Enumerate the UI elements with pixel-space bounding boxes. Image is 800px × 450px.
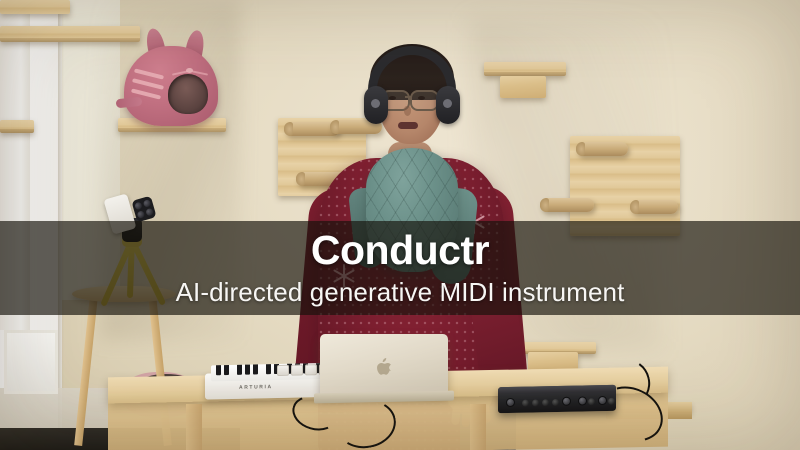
desk-leg bbox=[186, 404, 202, 450]
cat-house-entry-hole bbox=[168, 74, 208, 114]
cat-house bbox=[120, 28, 220, 126]
shelf-board bbox=[0, 0, 70, 14]
laptop-base bbox=[314, 391, 454, 404]
cat-peg-cap bbox=[630, 200, 639, 214]
shelf-board-edge bbox=[0, 38, 140, 42]
window-frame bbox=[4, 330, 58, 394]
shelf-left-mid bbox=[0, 120, 34, 133]
cat-peg bbox=[576, 142, 628, 156]
nose bbox=[404, 106, 411, 116]
cat-peg-cap bbox=[296, 172, 305, 186]
laptop[interactable] bbox=[312, 334, 452, 406]
video-frame: ARTURIA Conductr AI-d bbox=[0, 0, 800, 450]
apple-logo-icon bbox=[376, 358, 391, 375]
piano-black-key[interactable] bbox=[266, 364, 271, 374]
audio-interface[interactable] bbox=[498, 385, 616, 419]
midi-pad[interactable] bbox=[291, 364, 303, 375]
piano-black-key[interactable] bbox=[245, 365, 250, 375]
piano-black-key[interactable] bbox=[237, 365, 242, 375]
shelf-top-left-upper bbox=[0, 0, 70, 14]
page-subtitle: AI-directed generative MIDI instrument bbox=[176, 275, 625, 309]
midi-pad[interactable] bbox=[277, 365, 289, 376]
stool-leg bbox=[74, 296, 98, 446]
headphone-earcup-detail bbox=[443, 99, 452, 108]
midi-keyboard-brand-label: ARTURIA bbox=[239, 384, 273, 391]
cat-peg bbox=[540, 198, 594, 212]
piano-black-key[interactable] bbox=[224, 365, 229, 375]
headphone-earcup-left bbox=[364, 86, 388, 124]
cat-peg bbox=[630, 200, 678, 214]
camera-lens-icon bbox=[137, 210, 146, 219]
headphone-earcup-right bbox=[436, 86, 460, 124]
shelf-board-edge bbox=[118, 128, 226, 132]
camera-lens-icon bbox=[143, 199, 152, 208]
title-overlay-band: Conductr AI-directed generative MIDI ins… bbox=[0, 221, 800, 315]
camera-lens-icon bbox=[134, 202, 143, 211]
piano-black-key[interactable] bbox=[216, 365, 221, 375]
piano-black-key[interactable] bbox=[253, 364, 258, 374]
shelf-right-upper-bracket bbox=[500, 76, 546, 98]
shelf-top-left bbox=[0, 26, 140, 42]
title-overlay-content: Conductr AI-directed generative MIDI ins… bbox=[0, 221, 800, 315]
shelf-board bbox=[500, 76, 546, 98]
mouth bbox=[398, 122, 418, 129]
desk-leg bbox=[470, 404, 486, 450]
page-title: Conductr bbox=[311, 225, 489, 275]
cat-peg-cap bbox=[576, 142, 585, 156]
shelf-board-edge bbox=[0, 129, 34, 133]
headphone-earcup-detail bbox=[371, 99, 380, 108]
camera-lens-icon bbox=[145, 208, 154, 217]
cat-peg-cap bbox=[284, 122, 293, 136]
cat-peg-cap bbox=[540, 198, 549, 212]
